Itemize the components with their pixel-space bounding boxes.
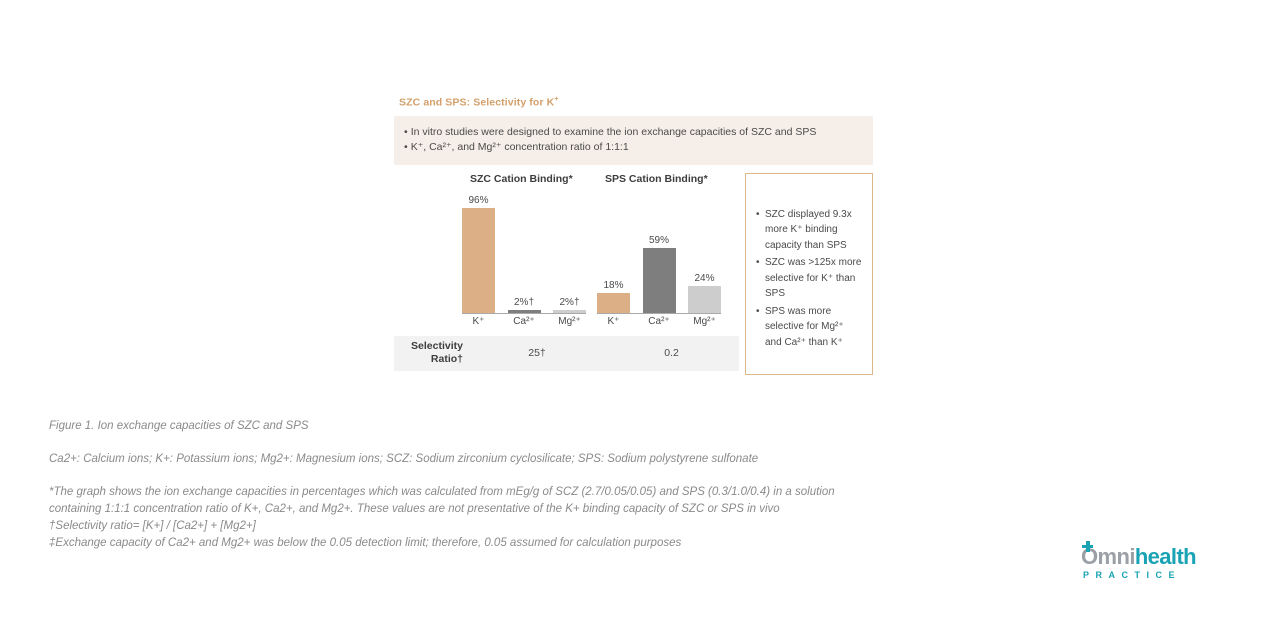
panel-header-sps: SPS Cation Binding*: [605, 173, 708, 185]
tick-szc-mg: Mg²⁺: [553, 316, 586, 332]
bar-sps-mg: [688, 286, 721, 313]
banner-bullet-1: •In vitro studies were designed to exami…: [404, 125, 863, 140]
selectivity-ratio-label-line1: Selectivity: [394, 340, 463, 353]
panel-headers: SZC Cation Binding* SPS Cation Binding*: [394, 173, 739, 193]
bar-value-label: 2%†: [559, 297, 579, 308]
figure-page: SZC and SPS: Selectivity for K+ •In vitr…: [0, 0, 1266, 625]
banner-bullet-1-text: In vitro studies were designed to examin…: [411, 126, 817, 138]
bars-sps: 18% 59% 24%: [597, 195, 721, 313]
bar-group-szc-k: 96%: [462, 195, 495, 313]
figure-title-text: SZC and SPS: Selectivity for K: [399, 97, 554, 109]
bar-group-sps-k: 18%: [597, 195, 630, 313]
bar-group-sps-ca: 59%: [643, 195, 676, 313]
bar-sps-ca: [643, 248, 676, 313]
bar-value-label: 24%: [694, 273, 714, 284]
key-findings-callout: SZC displayed 9.3x more K⁺ binding capac…: [745, 173, 873, 375]
figure-title-superscript: +: [554, 94, 558, 103]
chart-area: SZC Cation Binding* SPS Cation Binding* …: [394, 173, 873, 375]
key-finding-item: SZC displayed 9.3x more K⁺ binding capac…: [756, 207, 863, 254]
banner-bullet-2-text: K⁺, Ca²⁺, and Mg²⁺ concentration ratio o…: [411, 141, 629, 153]
bar-group-szc-ca: 2%†: [508, 195, 541, 313]
key-finding-item: SPS was more selective for Mg²⁺ and Ca²⁺…: [756, 304, 863, 351]
bar-sps-k: [597, 293, 630, 313]
bar-value-label: 59%: [649, 235, 669, 246]
bullet-glyph-icon: •: [404, 126, 408, 138]
omnihealth-logo: Omnihealth PRACTICE: [1081, 545, 1217, 580]
medical-cross-icon: [1082, 541, 1093, 552]
plot-szc: 96% 2%† 2%†: [462, 195, 586, 314]
plot-sps: 18% 59% 24%: [597, 195, 721, 314]
bar-szc-k: [462, 208, 495, 313]
intro-banner: •In vitro studies were designed to exami…: [394, 116, 873, 165]
selectivity-ratio-row: Selectivity Ratio† 25† 0.2: [394, 336, 739, 371]
bar-group-sps-mg: 24%: [688, 195, 721, 313]
caption-footnote-star: *The graph shows the ion exchange capaci…: [49, 484, 849, 518]
bullet-glyph-icon: •: [404, 141, 408, 153]
logo-mni-text: mni: [1098, 544, 1135, 569]
figure-title: SZC and SPS: Selectivity for K+: [399, 94, 873, 109]
figure-block: SZC and SPS: Selectivity for K+ •In vitr…: [394, 94, 873, 375]
logo-practice-text: PRACTICE: [1083, 570, 1181, 580]
banner-bullet-2: •K⁺, Ca²⁺, and Mg²⁺ concentration ratio …: [404, 140, 863, 155]
panel-header-szc: SZC Cation Binding*: [470, 173, 573, 185]
key-findings-list: SZC displayed 9.3x more K⁺ binding capac…: [756, 207, 863, 351]
tick-szc-k: K⁺: [462, 316, 495, 332]
tick-szc-ca: Ca²⁺: [508, 316, 541, 332]
caption-footnote-ddagger: ‡Exchange capacity of Ca2+ and Mg2+ was …: [49, 535, 849, 552]
tick-labels-szc: K⁺ Ca²⁺ Mg²⁺: [462, 316, 586, 332]
selectivity-ratio-label-line2: Ratio†: [394, 353, 463, 366]
tick-sps-mg: Mg²⁺: [688, 316, 721, 332]
bar-value-label: 2%†: [514, 297, 534, 308]
logo-health-text: health: [1135, 544, 1196, 569]
caption-footnote-dagger: †Selectivity ratio= [K+] / [Ca2+] + [Mg2…: [49, 518, 849, 535]
selectivity-ratio-label: Selectivity Ratio†: [394, 340, 470, 366]
caption-figure-line: Figure 1. Ion exchange capacities of SZC…: [49, 418, 849, 435]
selectivity-ratio-value-szc: 25†: [470, 347, 604, 359]
bars-szc: 96% 2%† 2%†: [462, 195, 586, 313]
selectivity-ratio-value-sps: 0.2: [604, 347, 739, 359]
key-finding-item: SZC was >125x more selective for K⁺ than…: [756, 255, 863, 302]
bar-group-szc-mg: 2%†: [553, 195, 586, 313]
caption-block: Figure 1. Ion exchange capacities of SZC…: [49, 418, 849, 552]
bar-value-label: 18%: [603, 280, 623, 291]
tick-sps-k: K⁺: [597, 316, 630, 332]
axis-line-sps: [597, 313, 721, 314]
axis-line-szc: [462, 313, 586, 314]
tick-sps-ca: Ca²⁺: [643, 316, 676, 332]
tick-labels-sps: K⁺ Ca²⁺ Mg²⁺: [597, 316, 721, 332]
bar-value-label: 96%: [468, 195, 488, 206]
caption-abbreviations: Ca2+: Calcium ions; K+: Potassium ions; …: [49, 451, 849, 468]
logo-wordmark: Omnihealth: [1081, 545, 1196, 569]
